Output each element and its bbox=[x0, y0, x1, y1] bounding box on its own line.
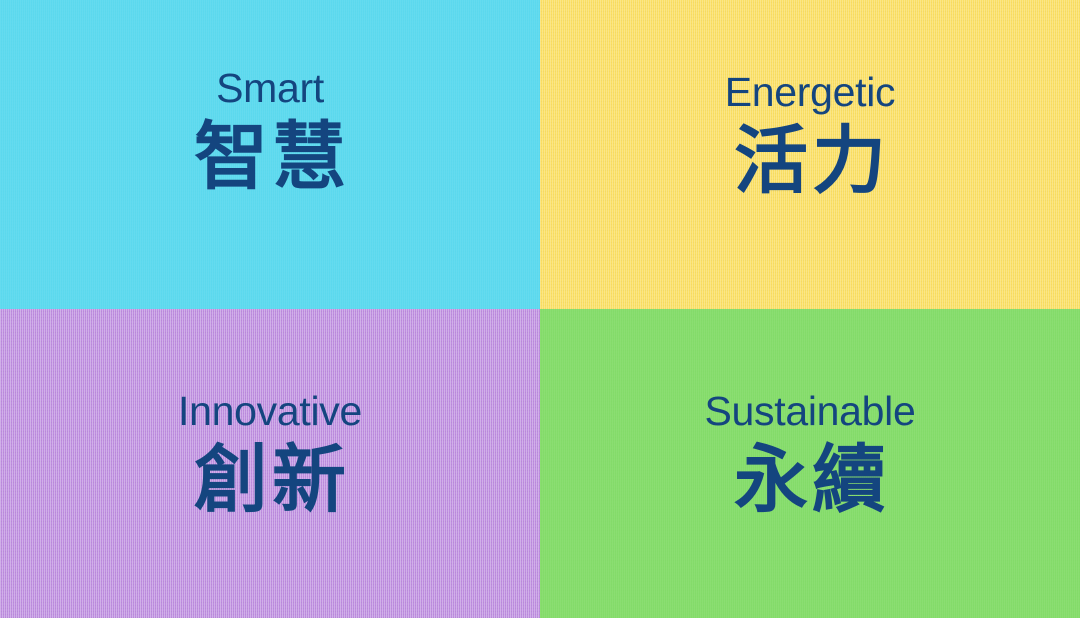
quadrant-sustainable-content: Sustainable 永續 bbox=[705, 389, 916, 522]
quadrant-smart[interactable]: Smart 智慧 bbox=[0, 0, 540, 309]
quadrant-energetic-content: Energetic 活力 bbox=[725, 70, 896, 203]
quadrant-innovative-label-cjk: 創新 bbox=[190, 439, 350, 522]
quadrant-energetic-label-cjk: 活力 bbox=[730, 120, 890, 203]
quadrant-energetic[interactable]: Energetic 活力 bbox=[540, 0, 1080, 309]
quadrant-sustainable-label-cjk: 永續 bbox=[730, 439, 890, 522]
quadrant-energetic-label-en: Energetic bbox=[725, 70, 896, 114]
quadrant-sustainable[interactable]: Sustainable 永續 bbox=[540, 309, 1080, 618]
quadrant-innovative-label-en: Innovative bbox=[178, 389, 362, 433]
quadrant-smart-content: Smart 智慧 bbox=[190, 66, 350, 199]
quadrant-smart-label-cjk: 智慧 bbox=[190, 116, 350, 199]
quadrant-smart-label-en: Smart bbox=[216, 66, 324, 110]
brand-values-grid: Smart 智慧 Energetic 活力 Innovative 創新 Sust… bbox=[0, 0, 1080, 618]
quadrant-innovative[interactable]: Innovative 創新 bbox=[0, 309, 540, 618]
quadrant-sustainable-label-en: Sustainable bbox=[705, 389, 916, 433]
quadrant-innovative-content: Innovative 創新 bbox=[178, 389, 362, 522]
